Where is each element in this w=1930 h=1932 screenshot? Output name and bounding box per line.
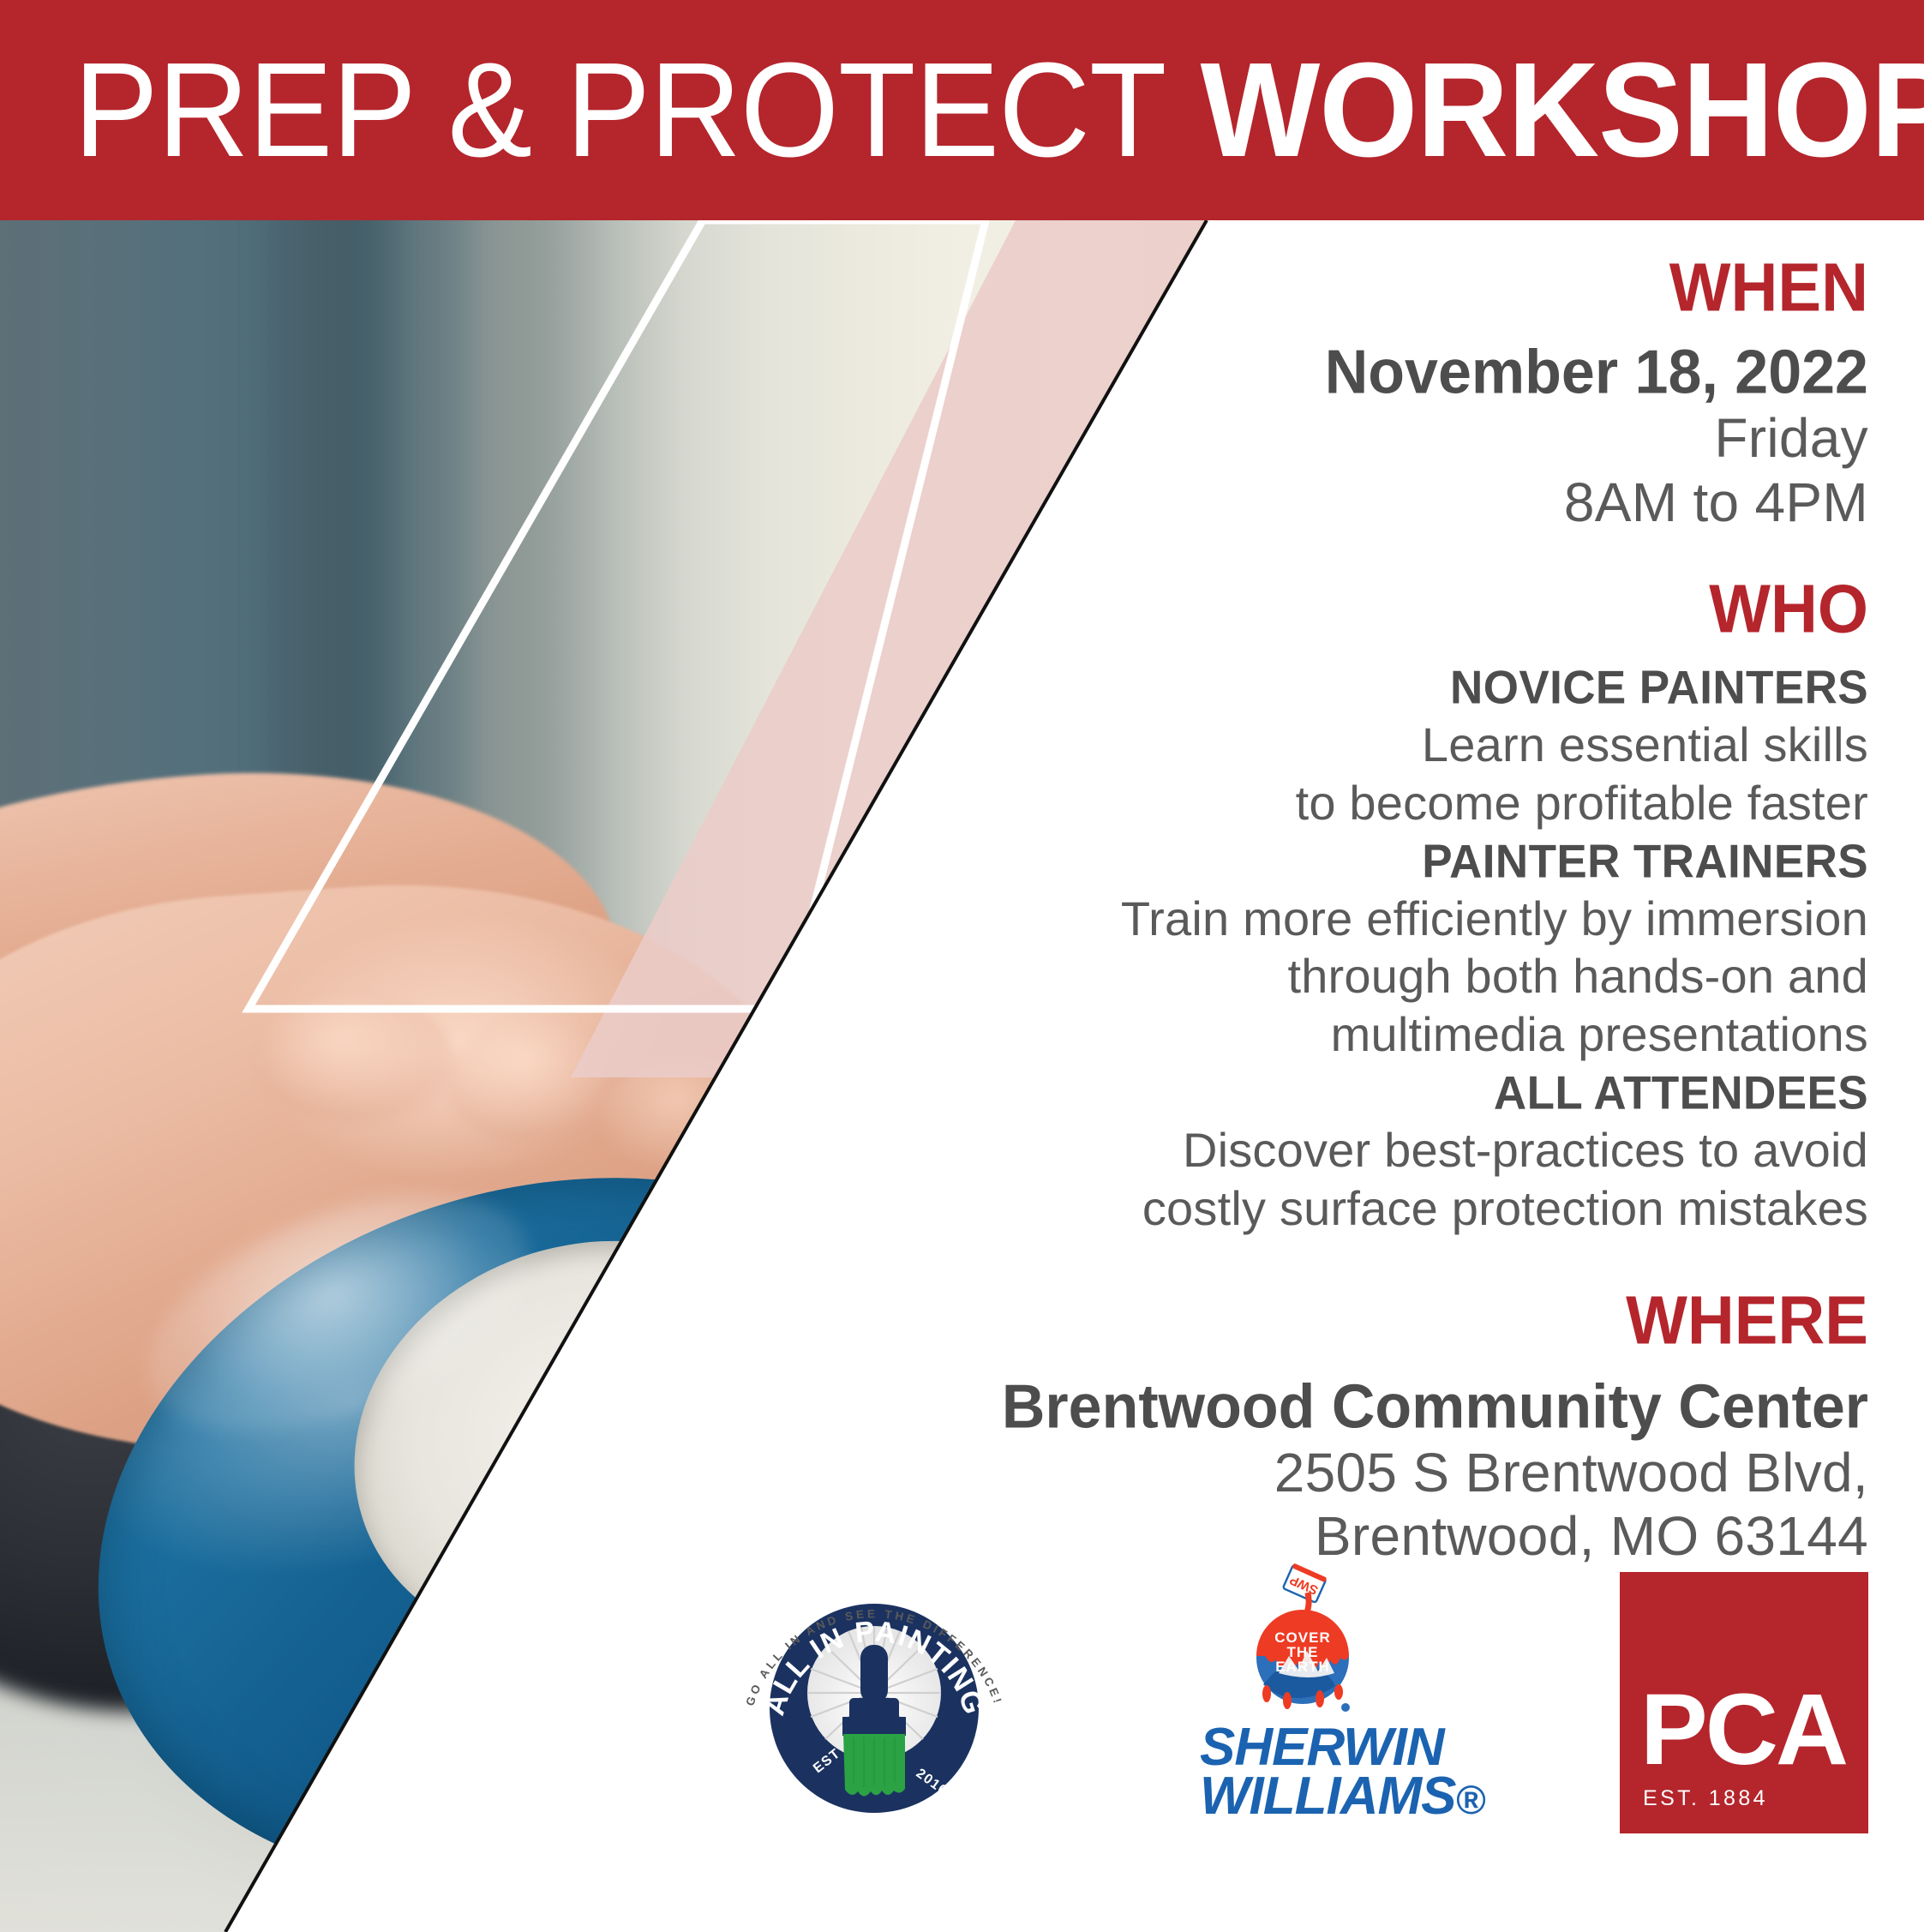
audience-line: Train more efficiently by immersion bbox=[908, 890, 1868, 947]
audience-group-all-attendees: ALL ATTENDEES Discover best-practices to… bbox=[908, 1068, 1868, 1237]
audience-group-painter-trainers: PAINTER TRAINERS Train more efficiently … bbox=[908, 837, 1868, 1063]
page-title: PREP & PROTECT WORKSHOP bbox=[0, 43, 1930, 177]
event-time: 8AM to 4PM bbox=[908, 471, 1868, 534]
audience-line: Learn essential skills bbox=[908, 716, 1868, 773]
sw-word-williams: WILLIAMS® bbox=[1200, 1772, 1406, 1821]
audience-title: PAINTER TRAINERS bbox=[908, 834, 1868, 890]
sherwin-williams-logo: SWP COVER THE bbox=[1200, 1563, 1406, 1846]
pca-logo: PCA EST. 1884 bbox=[1620, 1572, 1868, 1833]
venue-address-line1: 2505 S Brentwood Blvd, bbox=[908, 1441, 1868, 1504]
cover-the-earth-icon: SWP COVER THE bbox=[1200, 1563, 1406, 1726]
when-heading: WHEN bbox=[908, 254, 1868, 322]
sherwin-williams-wordmark: SHERWIN WILLIAMS® bbox=[1200, 1723, 1406, 1821]
audience-line: multimedia presentations bbox=[908, 1005, 1868, 1063]
sponsor-logos: GO ALL IN AND SEE THE DIFFERENCE! ALL IN… bbox=[0, 1555, 1930, 1898]
title-light-part: PREP & PROTECT bbox=[74, 35, 1166, 185]
audience-line: to become profitable faster bbox=[908, 774, 1868, 831]
globe-line3: EARTH bbox=[1275, 1659, 1330, 1675]
audience-group-novice-painters: NOVICE PAINTERS Learn essential skills t… bbox=[908, 663, 1868, 831]
header-banner: PREP & PROTECT WORKSHOP bbox=[0, 0, 1924, 220]
event-day: Friday bbox=[908, 406, 1868, 470]
sw-word-sherwin: SHERWIN bbox=[1200, 1723, 1406, 1772]
workshop-flyer: PREP & PROTECT WORKSHOP WHEN November 18… bbox=[0, 0, 1930, 1932]
photo-knuckle bbox=[257, 996, 454, 1125]
venue-name: Brentwood Community Center bbox=[908, 1371, 1868, 1442]
audience-line: costly surface protection mistakes bbox=[908, 1179, 1868, 1237]
event-date: November 18, 2022 bbox=[908, 337, 1868, 407]
where-heading: WHERE bbox=[908, 1287, 1868, 1355]
pca-est-text: EST. 1884 bbox=[1643, 1786, 1768, 1811]
audience-line: through both hands-on and bbox=[908, 947, 1868, 1005]
audience-line: Discover best-practices to avoid bbox=[908, 1121, 1868, 1179]
title-bold-part: WORKSHOP bbox=[1166, 35, 1930, 185]
who-heading: WHO bbox=[908, 575, 1868, 644]
event-details: WHEN November 18, 2022 Friday 8AM to 4PM… bbox=[908, 257, 1868, 1569]
pca-letters: PCA bbox=[1640, 1679, 1846, 1780]
all-in-painting-logo: GO ALL IN AND SEE THE DIFFERENCE! ALL IN… bbox=[728, 1556, 1020, 1847]
audience-title: ALL ATTENDEES bbox=[908, 1065, 1868, 1121]
audience-title: NOVICE PAINTERS bbox=[908, 660, 1868, 716]
